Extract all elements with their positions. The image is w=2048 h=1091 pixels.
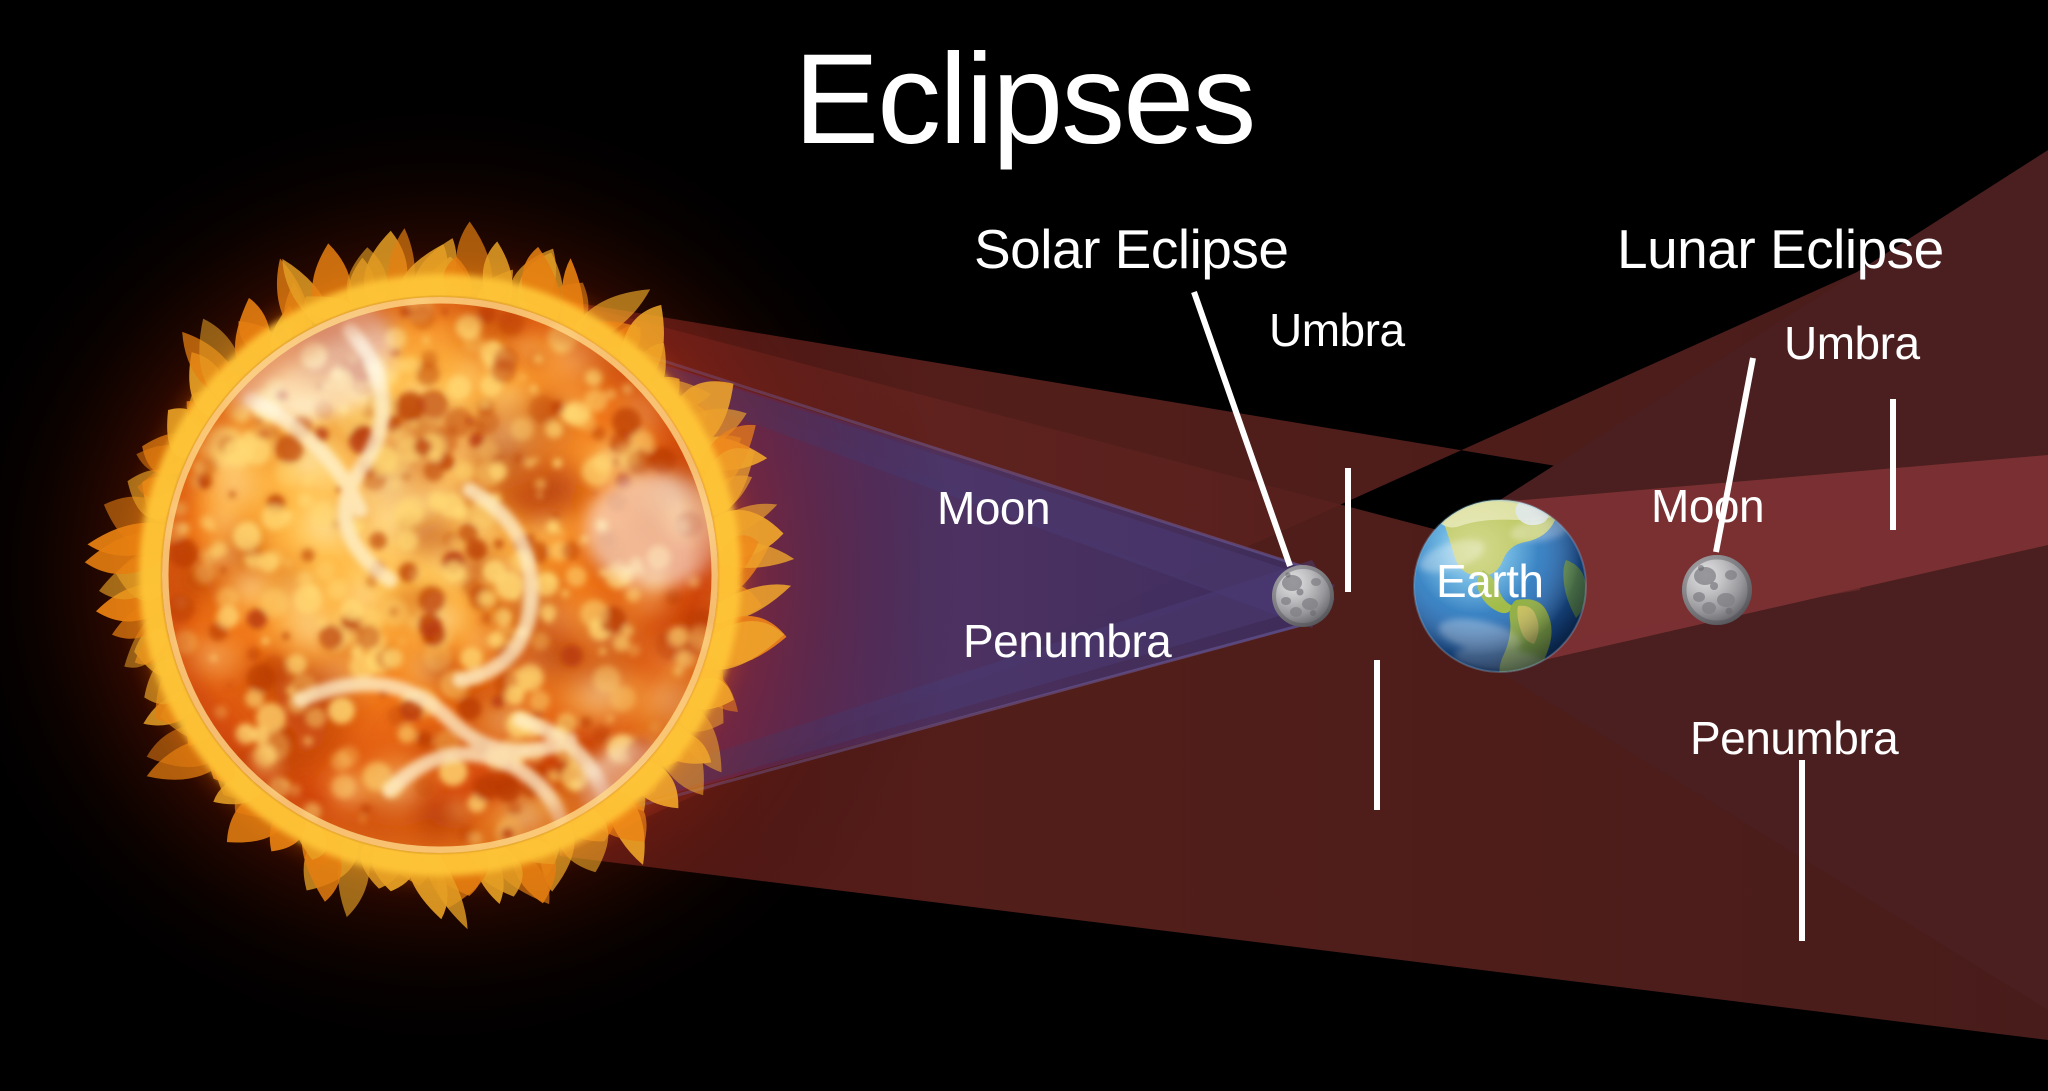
label-lunar-eclipse: Lunar Eclipse [1617,222,1944,277]
label-moon-right: Moon [1651,483,1764,529]
eclipses-diagram: Eclipses Solar Eclipse Lunar Eclipse Umb… [0,0,2048,1091]
label-earth: Earth [1436,558,1543,604]
label-penumbra-left: Penumbra [963,618,1171,664]
label-umbra-left: Umbra [1269,307,1405,353]
label-umbra-right: Umbra [1784,320,1920,366]
page-title: Eclipses [0,36,2048,164]
label-moon-left: Moon [937,485,1050,531]
moon-lunar [1682,555,1752,625]
moon-solar [1272,565,1334,627]
label-solar-eclipse: Solar Eclipse [974,222,1288,277]
label-penumbra-right: Penumbra [1690,715,1898,761]
